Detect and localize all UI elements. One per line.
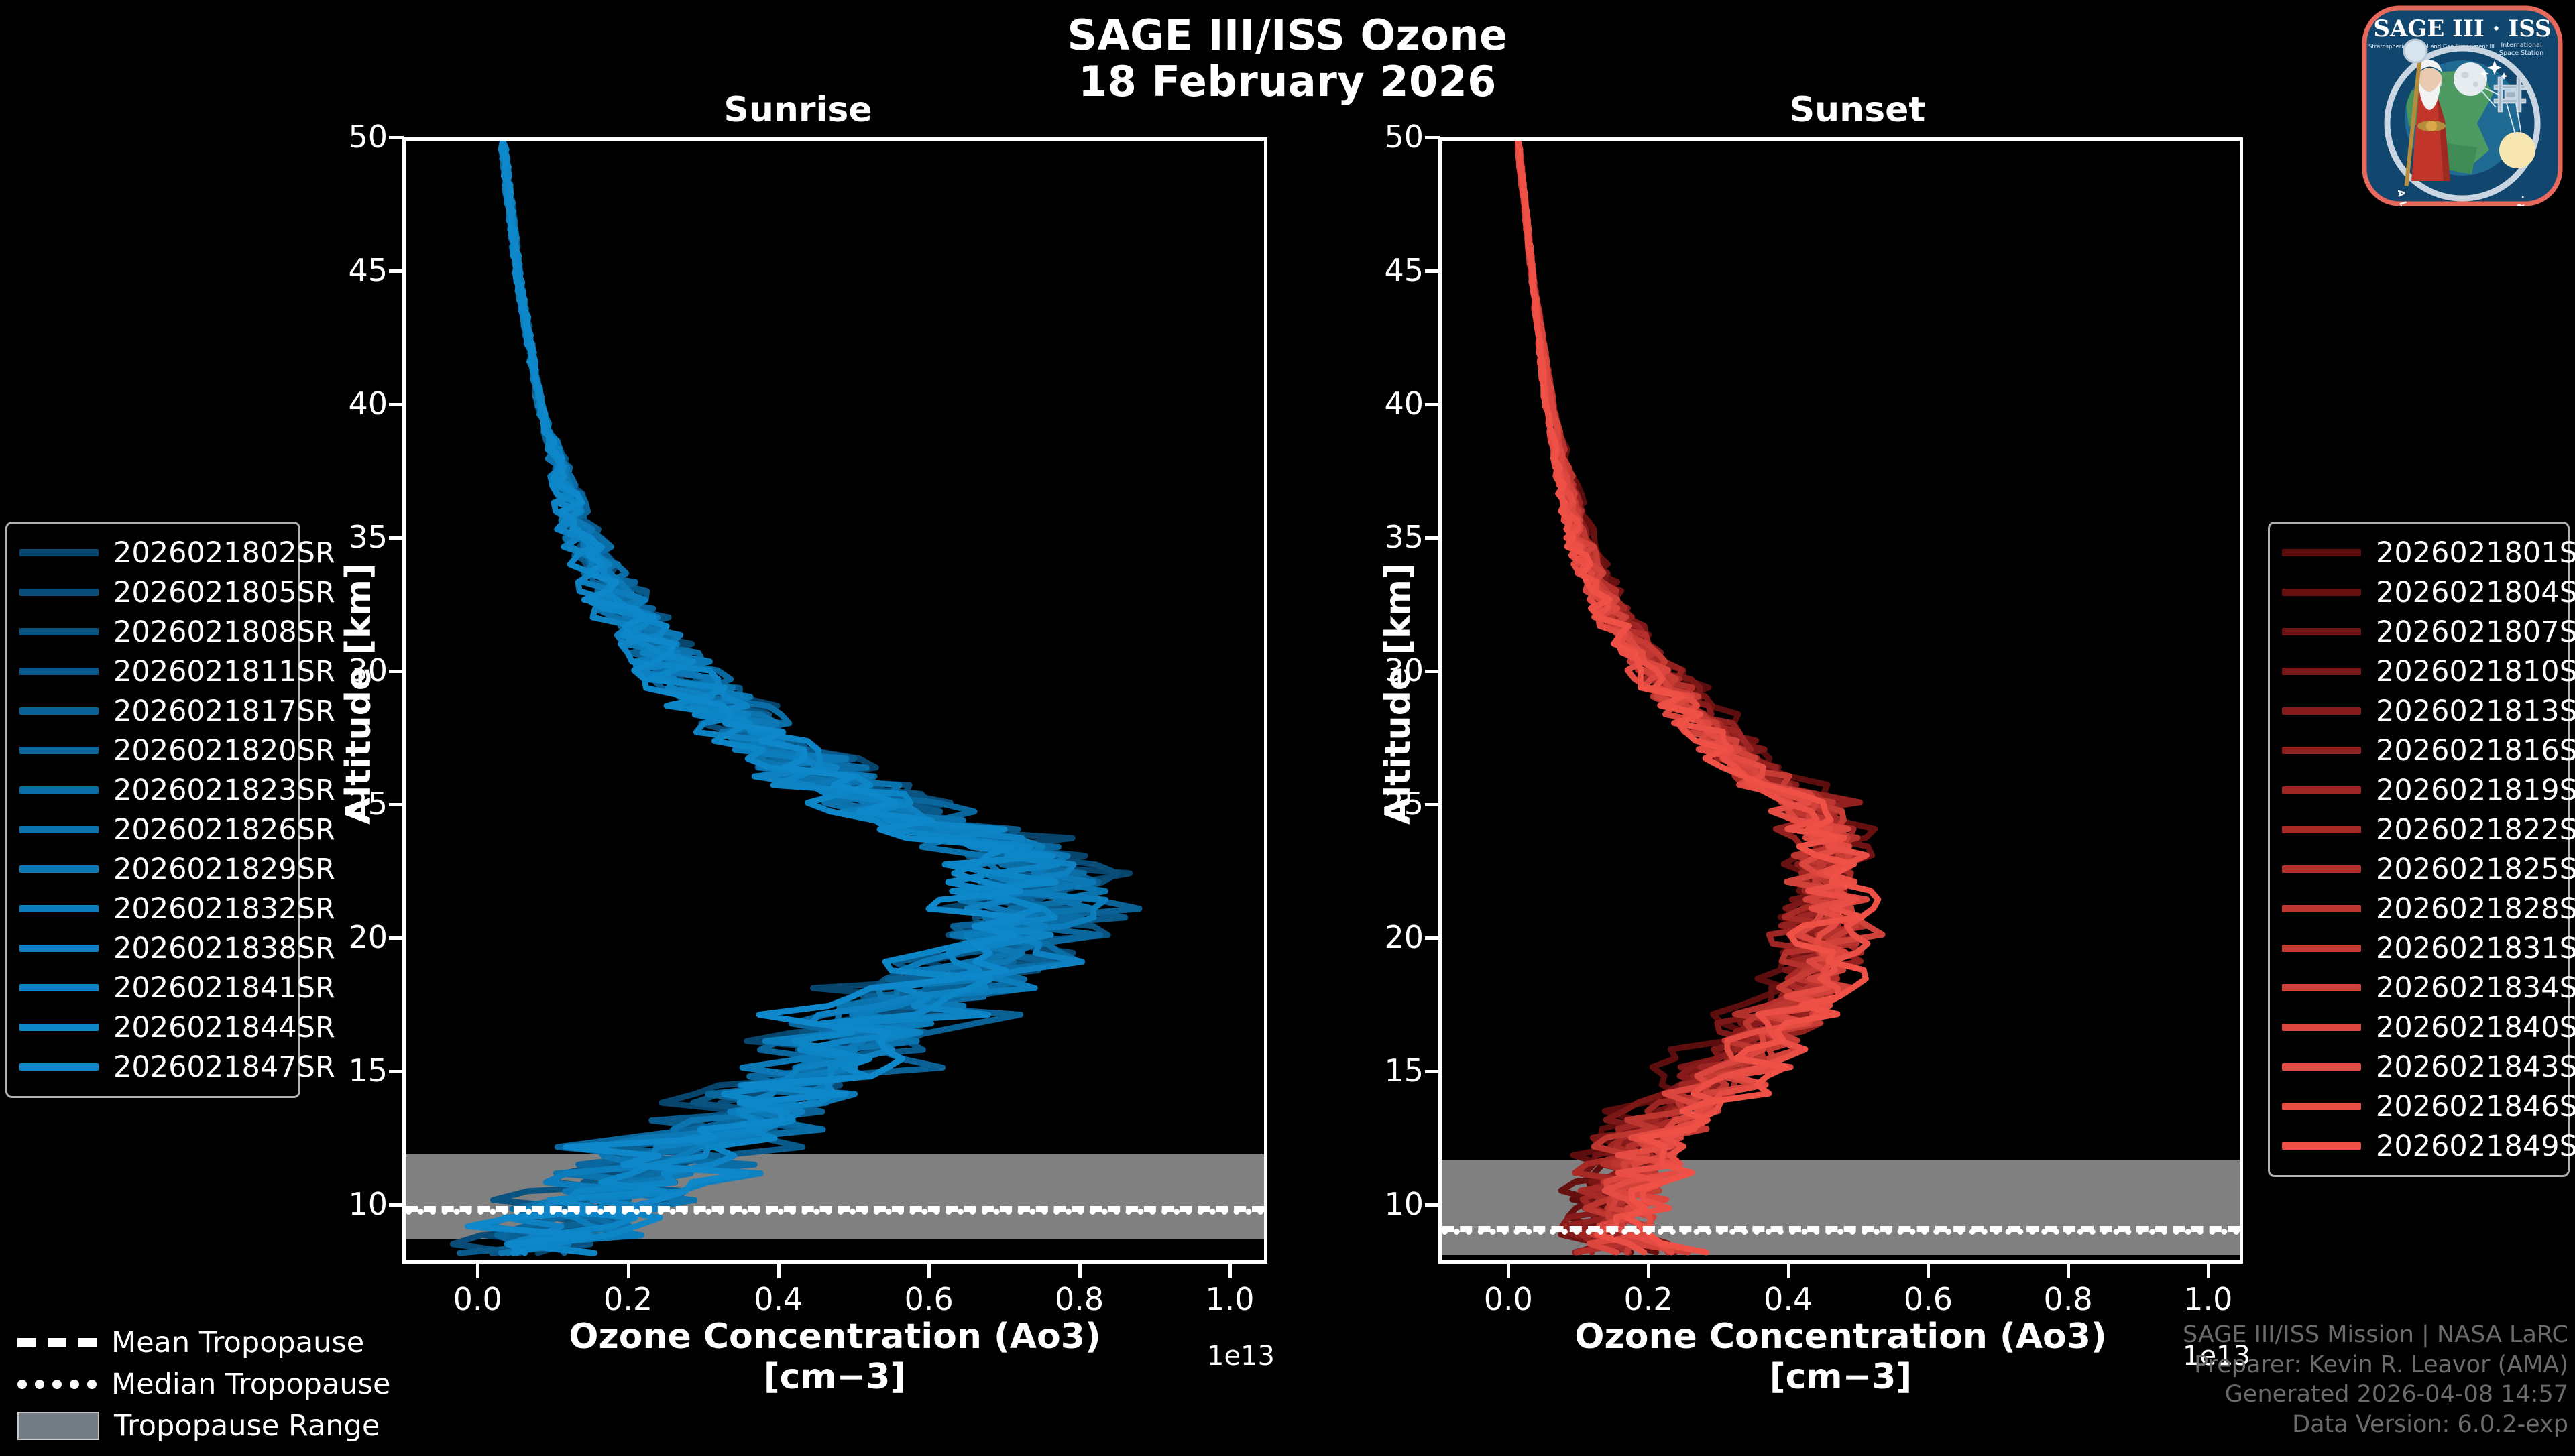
legend-item[interactable]: 2026021820SR (19, 731, 286, 770)
legend-item-label: 2026021822SS (2376, 813, 2575, 847)
legend-item-label: 2026021817SR (113, 694, 335, 728)
yaxis-tick-mark (1425, 536, 1440, 540)
xaxis-tick-label: 0.2 (1595, 1281, 1702, 1317)
logo-title: SAGE III · ISS (2373, 15, 2551, 42)
legend-item[interactable]: Median Tropopause (17, 1363, 369, 1405)
legend-item-label: 2026021840SS (2376, 1011, 2575, 1044)
xaxis-tick-mark (1507, 1264, 1510, 1278)
xaxis-title-line2: [cm−3] (402, 1357, 1267, 1398)
yaxis-tick-label: 45 (300, 252, 388, 288)
credits-line-2: Preparer: Kevin R. Leavor (AMA) (2183, 1350, 2568, 1380)
mean-tropopause-line-sunrise (406, 1206, 1264, 1212)
logo-subtitle-right-2: Space Station (2499, 50, 2543, 57)
legend-item-label: 2026021819SS (2376, 774, 2575, 807)
legend-color-swatch (2282, 945, 2361, 952)
legend-color-swatch (2282, 786, 2361, 794)
legend-color-swatch (2282, 747, 2361, 754)
legend-item[interactable]: 2026021843SS (2282, 1047, 2556, 1087)
xaxis-tick-mark (927, 1264, 931, 1278)
legend-color-swatch (2282, 1024, 2361, 1031)
yaxis-tick-mark (389, 403, 404, 406)
legend-item[interactable]: 2026021808SR (19, 612, 286, 652)
legend-color-swatch (2282, 628, 2361, 635)
legend-item[interactable]: Mean Tropopause (17, 1322, 369, 1363)
legend-color-swatch (2282, 984, 2361, 991)
yaxis-tick-label: 15 (1336, 1052, 1424, 1089)
legend-item[interactable]: 2026021804SS (2282, 572, 2556, 612)
legend-item-label: 2026021844SR (113, 1011, 335, 1044)
legend-item-label: 2026021849SS (2376, 1130, 2575, 1163)
legend-item[interactable]: 2026021817SR (19, 691, 286, 731)
legend-color-swatch (19, 1063, 99, 1071)
legend-item-label: Tropopause Range (114, 1409, 380, 1443)
legend-item-label: 2026021805SR (113, 576, 335, 609)
legend-item[interactable]: 2026021840SS (2282, 1008, 2556, 1047)
legend-item-label: 2026021816SS (2376, 734, 2575, 768)
legend-color-swatch (19, 1024, 99, 1031)
legend-item[interactable]: 2026021823SR (19, 770, 286, 810)
legend-item[interactable]: 2026021807SS (2282, 612, 2556, 652)
xaxis-tick-mark (476, 1264, 479, 1278)
legend-color-swatch (19, 747, 99, 754)
title-line-1: SAGE III/ISS Ozone (0, 12, 2575, 58)
legend-color-swatch (2282, 1103, 2361, 1110)
legend-item-label: Mean Tropopause (111, 1326, 364, 1359)
xaxis-tick-label: 1.0 (1176, 1281, 1283, 1317)
legend-item-label: 2026021810SS (2376, 655, 2575, 688)
legend-item[interactable]: 2026021844SR (19, 1008, 286, 1047)
legend-item-label: 2026021802SR (113, 536, 335, 570)
credits-line-1: SAGE III/ISS Mission | NASA LaRC (2183, 1320, 2568, 1350)
legend-color-swatch (19, 905, 99, 912)
xaxis-tick-mark (1078, 1264, 1082, 1278)
yaxis-tick-mark (389, 670, 404, 673)
legend-item-label: 2026021820SR (113, 734, 335, 768)
legend-item-label: 2026021808SR (113, 615, 335, 649)
legend-item[interactable]: 2026021828SS (2282, 889, 2556, 928)
legend-item-label: Median Tropopause (111, 1368, 390, 1401)
yaxis-tick-label: 50 (1336, 119, 1424, 155)
legend-dotted-swatch (17, 1380, 97, 1389)
sunrise-xaxis-title: Ozone Concentration (Ao3) [cm−3] (402, 1317, 1267, 1398)
legend-color-swatch (2282, 707, 2361, 715)
xaxis-tick-mark (1787, 1264, 1790, 1278)
legend-color-swatch (19, 589, 99, 596)
xaxis-tick-label: 0.8 (2014, 1281, 2122, 1317)
legend-item-label: 2026021801SS (2376, 536, 2575, 570)
xaxis-title-line2: [cm−3] (1438, 1357, 2243, 1398)
xaxis-tick-label: 0.4 (1735, 1281, 1842, 1317)
xaxis-tick-label: 0.6 (1874, 1281, 1982, 1317)
legend-item-label: 2026021829SR (113, 853, 335, 886)
yaxis-tick-mark (389, 1203, 404, 1207)
xaxis-tick-label: 0.8 (1026, 1281, 1133, 1317)
legend-item[interactable]: 2026021810SS (2282, 652, 2556, 691)
legend-item[interactable]: 2026021813SS (2282, 691, 2556, 731)
legend-dashed-swatch (17, 1338, 97, 1347)
xaxis-tick-label: 0.0 (424, 1281, 531, 1317)
sunrise-panel-title: Sunrise (496, 90, 1100, 130)
legend-item[interactable]: 2026021846SS (2282, 1087, 2556, 1126)
legend-item[interactable]: 2026021831SS (2282, 928, 2556, 968)
legend-item[interactable]: 2026021801SS (2282, 533, 2556, 572)
page-title: SAGE III/ISS Ozone 18 February 2026 (0, 12, 2575, 105)
yaxis-tick-label: 50 (300, 119, 388, 155)
xaxis-tick-label: 0.4 (725, 1281, 832, 1317)
legend-item-label: 2026021831SS (2376, 932, 2575, 965)
legend-color-swatch (2282, 589, 2361, 596)
yaxis-tick-mark (389, 269, 404, 273)
yaxis-tick-mark (1425, 1070, 1440, 1073)
legend-item-label: 2026021838SR (113, 932, 335, 965)
yaxis-tick-mark (1425, 1203, 1440, 1207)
yaxis-tick-label: 40 (1336, 385, 1424, 422)
legend-color-swatch (2282, 826, 2361, 833)
sunrise-legend[interactable]: 2026021802SR2026021805SR2026021808SR2026… (5, 522, 300, 1098)
credits-line-4: Data Version: 6.0.2-exp (2183, 1410, 2568, 1440)
sage-iii-iss-logo: SAGE III · ISS Stratospheric Aerosol and… (2362, 5, 2563, 206)
legend-color-swatch (19, 945, 99, 952)
yaxis-tick-label: 35 (1336, 519, 1424, 555)
yaxis-tick-mark (1425, 936, 1440, 940)
sunset-yaxis-title: Altitude [km] (1378, 563, 1418, 825)
legend-item[interactable]: 2026021802SR (19, 533, 286, 572)
legend-item-label: 2026021823SR (113, 774, 335, 807)
tropopause-legend[interactable]: Mean TropopauseMedian TropopauseTropopau… (5, 1313, 381, 1456)
legend-color-swatch (2282, 865, 2361, 873)
legend-item[interactable]: 2026021841SR (19, 968, 286, 1008)
sunrise-plot-area (402, 137, 1267, 1264)
yaxis-tick-label: 45 (1336, 252, 1424, 288)
legend-item[interactable]: 2026021811SR (19, 652, 286, 691)
legend-item[interactable]: 2026021838SR (19, 928, 286, 968)
legend-item-label: 2026021834SS (2376, 971, 2575, 1005)
legend-color-swatch (19, 786, 99, 794)
xaxis-tick-label: 0.2 (575, 1281, 682, 1317)
legend-item[interactable]: 2026021816SS (2282, 731, 2556, 770)
title-line-2: 18 February 2026 (0, 58, 2575, 105)
legend-item[interactable]: 2026021829SR (19, 849, 286, 889)
xaxis-tick-mark (1228, 1264, 1232, 1278)
legend-item-label: 2026021843SS (2376, 1050, 2575, 1084)
legend-color-swatch (19, 628, 99, 635)
yaxis-tick-mark (1425, 269, 1440, 273)
sunrise-yaxis-title: Altitude [km] (339, 563, 379, 825)
legend-color-swatch (19, 707, 99, 715)
yaxis-tick-mark (1425, 136, 1440, 139)
legend-item-label: 2026021826SR (113, 813, 335, 847)
xaxis-tick-mark (1647, 1264, 1650, 1278)
legend-item[interactable]: 2026021832SR (19, 889, 286, 928)
legend-item[interactable]: 2026021834SS (2282, 968, 2556, 1008)
legend-item[interactable]: 2026021826SR (19, 810, 286, 849)
xaxis-tick-mark (2067, 1264, 2070, 1278)
yaxis-tick-mark (1425, 670, 1440, 673)
yaxis-tick-label: 40 (300, 385, 388, 422)
yaxis-tick-label: 10 (1336, 1186, 1424, 1222)
sunset-plot-area (1438, 137, 2243, 1264)
legend-item-label: 2026021813SS (2376, 694, 2575, 728)
yaxis-tick-mark (389, 1070, 404, 1073)
legend-item[interactable]: 2026021805SR (19, 572, 286, 612)
legend-color-swatch (2282, 668, 2361, 675)
yaxis-tick-label: 10 (300, 1186, 388, 1222)
xaxis-tick-mark (2207, 1264, 2210, 1278)
legend-color-swatch (2282, 1142, 2361, 1150)
legend-item[interactable]: Tropopause Range (17, 1405, 369, 1447)
yaxis-tick-label: 20 (1336, 919, 1424, 955)
xaxis-tick-mark (1927, 1264, 1930, 1278)
logo-sun-icon (2499, 132, 2535, 168)
legend-item[interactable]: 2026021822SS (2282, 810, 2556, 849)
legend-item-label: 2026021841SR (113, 971, 335, 1005)
legend-item-label: 2026021811SR (113, 655, 335, 688)
yaxis-tick-mark (1425, 403, 1440, 406)
legend-color-swatch (2282, 549, 2361, 556)
logo-subtitle-right-1: International (2501, 42, 2541, 49)
sunset-panel-title: Sunset (1556, 90, 2159, 130)
xaxis-tick-mark (777, 1264, 781, 1278)
sunrise-profiles (406, 141, 1264, 1258)
sunset-legend[interactable]: 2026021801SS2026021804SS2026021807SS2026… (2268, 522, 2570, 1177)
xaxis-title-line1: Ozone Concentration (Ao3) (402, 1317, 1267, 1357)
legend-item-label: 2026021828SS (2376, 892, 2575, 926)
legend-color-swatch (19, 668, 99, 675)
yaxis-tick-mark (389, 936, 404, 940)
legend-item-label: 2026021846SS (2376, 1090, 2575, 1124)
yaxis-tick-mark (389, 803, 404, 806)
legend-item[interactable]: 2026021847SR (19, 1047, 286, 1087)
xaxis-tick-label: 0.6 (875, 1281, 982, 1317)
legend-item-label: 2026021804SS (2376, 576, 2575, 609)
legend-item-label: 2026021847SR (113, 1050, 335, 1084)
sunset-profiles (1442, 141, 2240, 1258)
yaxis-tick-mark (389, 136, 404, 139)
credits-block: SAGE III/ISS Mission | NASA LaRC Prepare… (2183, 1320, 2568, 1440)
legend-item-label: 2026021832SR (113, 892, 335, 926)
legend-color-swatch (19, 826, 99, 833)
yaxis-tick-mark (1425, 803, 1440, 806)
legend-color-swatch (19, 865, 99, 873)
yaxis-tick-mark (389, 536, 404, 540)
legend-item[interactable]: 2026021849SS (2282, 1126, 2556, 1166)
xaxis-title-line1: Ozone Concentration (Ao3) (1438, 1317, 2243, 1357)
legend-item-label: 2026021825SS (2376, 853, 2575, 886)
credits-line-3: Generated 2026-04-08 14:57 (2183, 1380, 2568, 1410)
sunset-xaxis-title: Ozone Concentration (Ao3) [cm−3] (1438, 1317, 2243, 1398)
legend-item-label: 2026021807SS (2376, 615, 2575, 649)
xaxis-tick-label: 1.0 (2155, 1281, 2262, 1317)
mean-tropopause-line-sunset (1442, 1226, 2240, 1232)
xaxis-tick-label: 0.0 (1454, 1281, 1562, 1317)
legend-color-swatch (19, 549, 99, 556)
legend-item[interactable]: 2026021819SS (2282, 770, 2556, 810)
legend-band-swatch (17, 1412, 99, 1440)
legend-color-swatch (19, 984, 99, 991)
legend-color-swatch (2282, 1063, 2361, 1071)
sunrise-xaxis-offset: 1e13 (1207, 1341, 1275, 1372)
xaxis-tick-mark (627, 1264, 630, 1278)
legend-color-swatch (2282, 905, 2361, 912)
legend-item[interactable]: 2026021825SS (2282, 849, 2556, 889)
